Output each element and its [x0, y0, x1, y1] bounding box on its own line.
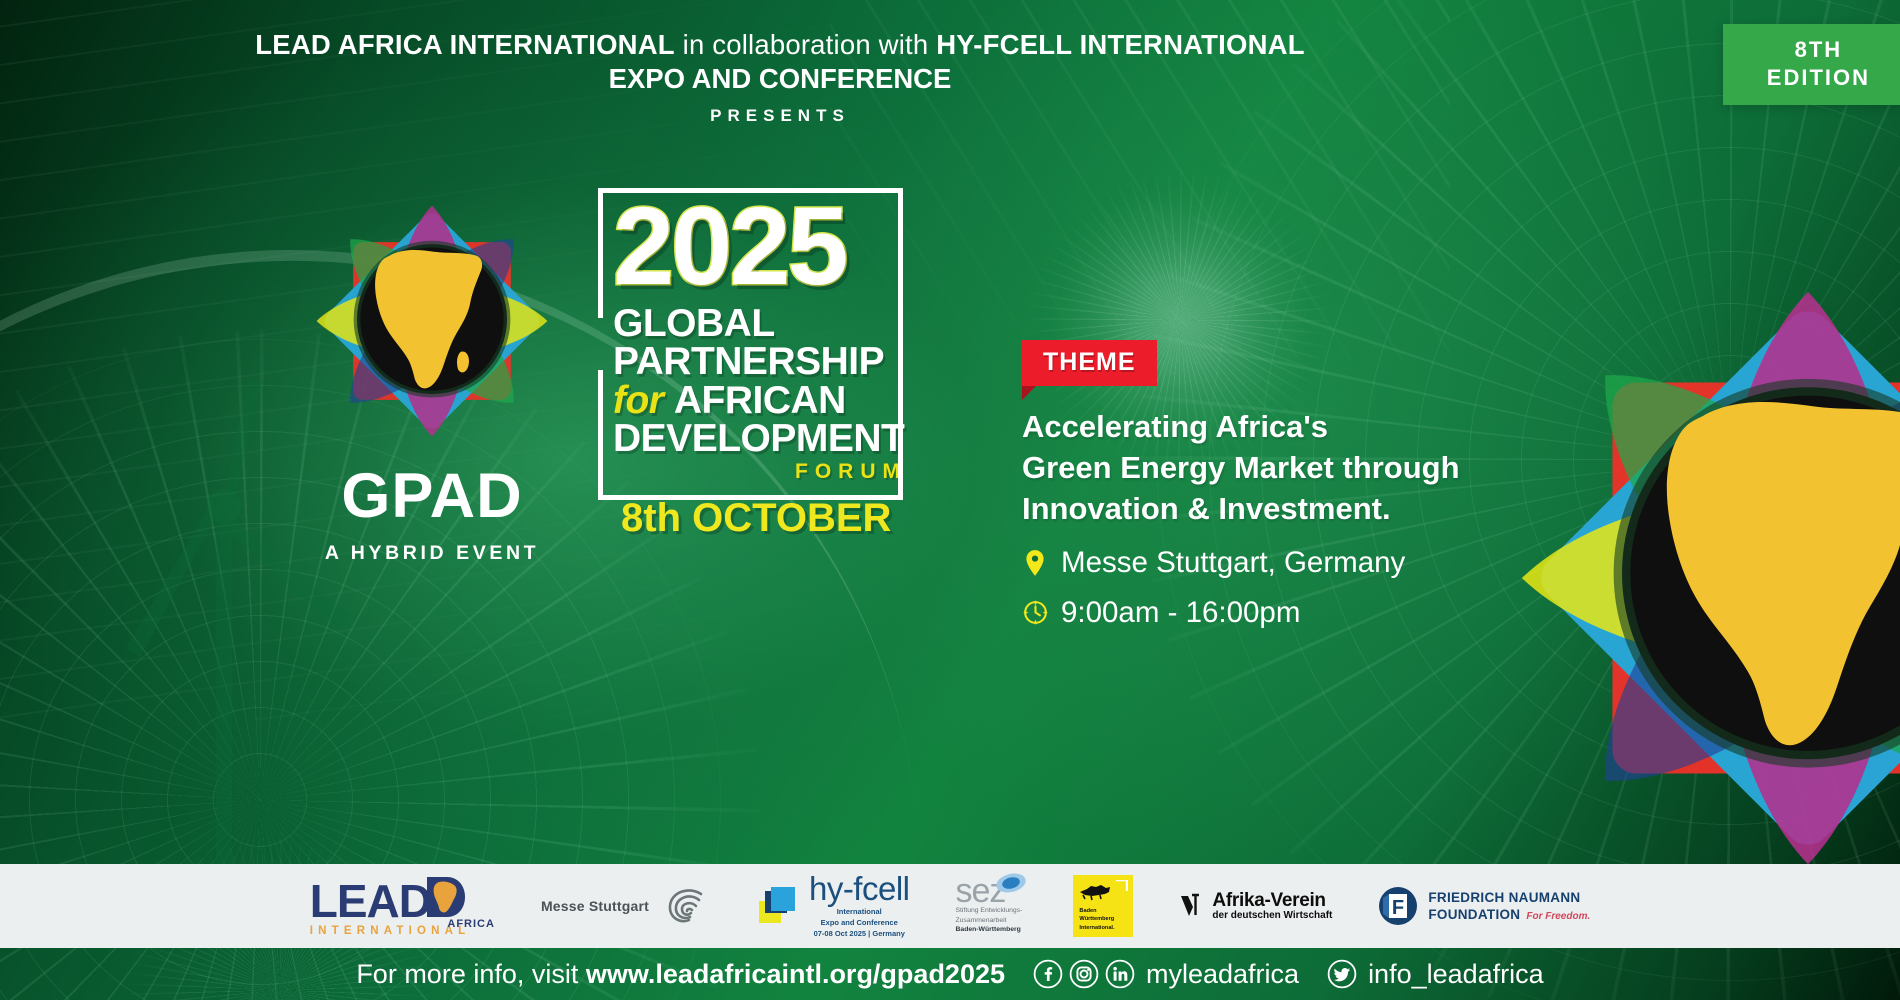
friedrich-naumann-line2: FOUNDATION: [1428, 906, 1520, 923]
title-word-african: AFRICAN: [674, 379, 846, 422]
friedrich-naumann-line1: FRIEDRICH NAUMANN: [1428, 889, 1590, 906]
facebook-icon[interactable]: [1033, 959, 1063, 989]
venue-row: Messe Stuttgart, Germany: [1022, 546, 1582, 580]
bw-sub2: Württemberg: [1079, 915, 1114, 923]
sponsor-sez: sez Stiftung Entwicklungs- Zusammenarbei…: [956, 871, 1028, 941]
afrika-verein-mark-icon: [1179, 893, 1205, 919]
theme-line-1: Accelerating Africa's: [1022, 407, 1582, 448]
lead-logo-word: LEAD: [310, 883, 431, 920]
footer-website-line: For more info, visit www.leadafricaintl.…: [356, 959, 1005, 990]
header-presents: PRESENTS: [0, 106, 1560, 126]
location-pin-icon: [1022, 548, 1048, 578]
title-frame-right: [898, 188, 903, 500]
event-year: 2025: [613, 196, 915, 297]
hy-fcell-sub3: 07-08 Oct 2025 | Germany: [809, 929, 910, 940]
time-label: 9:00am - 16:00pm: [1061, 596, 1300, 630]
sez-sub2: Zusammenarbeit: [956, 916, 1028, 926]
sez-sub1: Stiftung Entwicklungs-: [956, 906, 1028, 916]
header-expo-line: EXPO AND CONFERENCE: [0, 62, 1560, 96]
sponsor-baden-wuerttemberg-international: Baden Württemberg International.: [1073, 871, 1133, 941]
edition-badge-line2: EDITION: [1767, 64, 1870, 92]
linkedin-icon[interactable]: [1105, 959, 1135, 989]
title-line-forum: FORUM: [605, 460, 907, 484]
header-presenter-line: LEAD AFRICA INTERNATIONAL in collaborati…: [0, 28, 1560, 62]
banner-header: LEAD AFRICA INTERNATIONAL in collaborati…: [0, 28, 1560, 126]
sez-dotted-ellipse-icon: [995, 873, 1027, 895]
sponsor-bar: LEAD INTERNATIONAL AFRICA Messe Stuttgar…: [0, 864, 1900, 948]
hy-fcell-squares-icon: [755, 883, 801, 929]
social-handle-twitter[interactable]: info_leadafrica: [1368, 959, 1544, 990]
twitter-icon[interactable]: [1327, 959, 1357, 989]
sez-sub3: Baden-Württemberg: [956, 925, 1028, 935]
bw-lion-icon: [1079, 883, 1113, 901]
sponsor-afrika-verein: Afrika-Verein der deutschen Wirtschaft: [1179, 871, 1332, 941]
messe-stuttgart-spiral-icon: [661, 882, 709, 930]
clock-icon: [1022, 598, 1048, 628]
banner-footer: For more info, visit www.leadafricaintl.…: [0, 948, 1900, 1000]
title-line-global: GLOBAL: [613, 305, 915, 343]
title-line-development: DEVELOPMENT: [613, 420, 915, 458]
theme-block: THEME Accelerating Africa's Green Energy…: [1022, 340, 1582, 630]
instagram-icon[interactable]: [1069, 959, 1099, 989]
sez-subtitle: Stiftung Entwicklungs- Zusammenarbeit Ba…: [956, 906, 1028, 936]
theme-tag: THEME: [1022, 340, 1157, 386]
friedrich-naumann-tagline: For Freedom.: [1526, 911, 1590, 922]
bw-corner-mark-icon: [1116, 880, 1128, 892]
bw-sub1: Baden: [1079, 907, 1114, 915]
lead-logo-international: INTERNATIONAL: [310, 925, 471, 937]
theme-line-3: Innovation & Investment.: [1022, 489, 1582, 530]
social-group-primary: myleadafrica: [1033, 959, 1299, 990]
event-banner: LEAD AFRICA INTERNATIONAL in collaborati…: [0, 0, 1900, 1000]
theme-line-2: Green Energy Market through: [1022, 448, 1582, 489]
hy-fcell-wordmark: hy-fcell: [809, 872, 910, 905]
gpad-logo-block: GPAD A HYBRID EVENT: [262, 196, 602, 565]
bw-sub3: International.: [1079, 924, 1114, 932]
footer-info-prefix: For more info, visit: [356, 959, 586, 989]
theme-statement: Accelerating Africa's Green Energy Marke…: [1022, 407, 1582, 530]
hy-fcell-subtitle: International Expo and Conference 07-08 …: [809, 907, 910, 940]
hy-fcell-sub2: Expo and Conference: [809, 918, 910, 929]
event-title-block: 2025 GLOBAL PARTNERSHIP for AFRICAN DEVE…: [605, 190, 915, 541]
bw-subtitle: Baden Württemberg International.: [1079, 907, 1114, 932]
friedrich-naumann-f-icon: F: [1378, 886, 1418, 926]
sponsor-messe-stuttgart: Messe Stuttgart: [541, 871, 709, 941]
edition-badge: 8TH EDITION: [1723, 24, 1900, 105]
gpad-logo-icon: [307, 196, 557, 446]
lead-logo-africa-icon: [425, 875, 467, 919]
social-group-twitter: info_leadafrica: [1327, 959, 1544, 990]
event-date: 8th OCTOBER: [621, 496, 915, 541]
sponsor-friedrich-naumann-foundation: F FRIEDRICH NAUMANN FOUNDATION For Freed…: [1378, 871, 1590, 941]
title-line-partnership: PARTNERSHIP: [613, 343, 915, 381]
hy-fcell-sub1: International: [809, 907, 910, 918]
title-line-african: for AFRICAN: [613, 382, 915, 420]
venue-label: Messe Stuttgart, Germany: [1061, 546, 1405, 580]
gpad-logo-subtitle: A HYBRID EVENT: [262, 542, 602, 565]
social-handle-primary[interactable]: myleadafrica: [1146, 959, 1299, 990]
gpad-logo-name: GPAD: [262, 465, 602, 528]
header-org-lead: LEAD AFRICA INTERNATIONAL: [255, 29, 675, 60]
header-collab-text: in collaboration with: [675, 29, 936, 60]
footer-website-url[interactable]: www.leadafricaintl.org/gpad2025: [586, 959, 1005, 989]
lead-logo-africa-label: AFRICA: [447, 918, 495, 930]
afrika-verein-wordmark: Afrika-Verein: [1212, 891, 1332, 910]
afrika-verein-subtitle: der deutschen Wirtschaft: [1212, 910, 1332, 921]
messe-stuttgart-label: Messe Stuttgart: [541, 898, 649, 914]
sponsor-hy-fcell: hy-fcell International Expo and Conferen…: [755, 871, 910, 941]
title-word-for: for: [613, 379, 664, 422]
svg-text:F: F: [1392, 897, 1404, 919]
title-frame-top-right: [755, 188, 903, 193]
edition-badge-line1: 8TH: [1767, 36, 1870, 64]
time-row: 9:00am - 16:00pm: [1022, 596, 1582, 630]
sponsor-lead-africa-international: LEAD INTERNATIONAL AFRICA: [310, 871, 495, 941]
header-org-hyfcell: HY-FCELL INTERNATIONAL: [936, 29, 1305, 60]
